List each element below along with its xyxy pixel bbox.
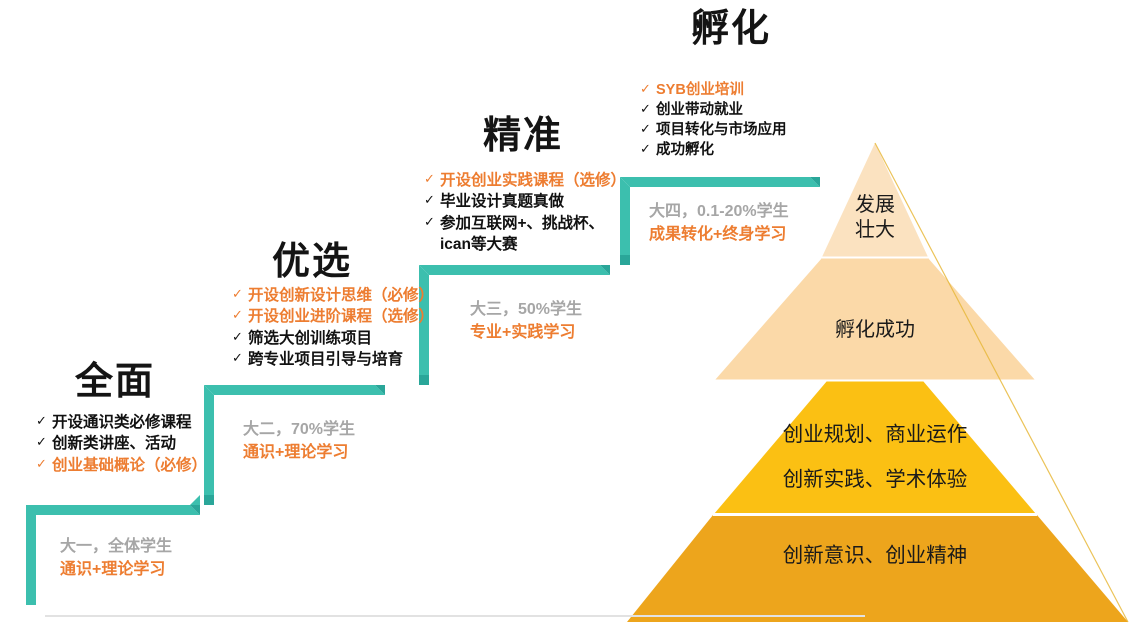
bullet-text: 开设创业实践课程（选修） (440, 170, 626, 191)
bullet-item: ✓ 创新类讲座、活动 (36, 433, 207, 454)
step-focus: 专业+实践学习 (470, 321, 582, 344)
check-icon: ✓ (424, 170, 440, 188)
stage-bullets-jingzhun: ✓ 开设创业实践课程（选修） ✓ 毕业设计真题真做 ✓ 参加互联网+、挑战杯、 … (424, 170, 626, 256)
stair-step-4-shadow (620, 255, 630, 265)
check-icon: ✓ (640, 140, 656, 158)
pyramid-label-level-4: 创新意识、创业精神 (725, 543, 1025, 569)
step-label-fuhua: 大四，0.1-20%学生 成果转化+终身学习 (649, 200, 789, 246)
stair-step-2-shadow (204, 495, 214, 505)
stair-step-1-riser (26, 505, 36, 605)
bullet-text: 创业基础概论（必修） (52, 455, 207, 476)
stage-title-fuhua: 孵化 (691, 10, 771, 48)
bullet-item: ican等大赛 (424, 234, 626, 255)
step-audience: 大一，全体学生 (60, 535, 172, 558)
bullet-text: 成功孵化 (656, 140, 714, 160)
bullet-text: 筛选大创训练项目 (248, 328, 372, 349)
bullet-text: 创业带动就业 (656, 100, 743, 120)
bullet-item: ✓ 参加互联网+、挑战杯、 (424, 213, 626, 234)
check-icon: ✓ (424, 213, 440, 231)
bullet-item: ✓ 项目转化与市场应用 (640, 120, 787, 140)
pyramid-label-line: 孵化成功 (800, 318, 950, 343)
bullet-item: ✓ 开设创业进阶课程（选修） (232, 306, 434, 327)
stage-title-jingzhun: 精准 (483, 117, 563, 155)
bullet-item: ✓ 创业基础概论（必修） (36, 455, 207, 476)
step-label-jingzhun: 大三，50%学生 专业+实践学习 (470, 298, 582, 344)
step-audience: 大二，70%学生 (243, 418, 355, 441)
stair-step-3-tread (419, 265, 610, 275)
step-focus: 通识+理论学习 (243, 441, 355, 464)
bullet-item: ✓ 创业带动就业 (640, 100, 787, 120)
bullet-text: 跨专业项目引导与培育 (248, 349, 403, 370)
step-audience: 大三，50%学生 (470, 298, 582, 321)
check-icon: ✓ (232, 328, 248, 346)
bullet-item: ✓ 跨专业项目引导与培育 (232, 349, 434, 370)
stair-step-1-tread (26, 505, 200, 515)
stage-bullets-quanmian: ✓ 开设通识类必修课程 ✓ 创新类讲座、活动 ✓ 创业基础概论（必修） (36, 412, 207, 476)
bullet-item: ✓ SYB创业培训 (640, 80, 787, 100)
step-focus: 成果转化+终身学习 (649, 223, 789, 246)
pyramid-label-level-2: 孵化成功 (800, 318, 950, 343)
pyramid-label-level-3: 创业规划、商业运作 创新实践、学术体验 (725, 412, 1025, 502)
bullet-text: 项目转化与市场应用 (656, 120, 787, 140)
pyramid-label-level-1: 发展 壮大 (840, 193, 910, 243)
stair-step-4-tread (620, 177, 820, 187)
bullet-text: SYB创业培训 (656, 80, 744, 100)
bullet-text-continuation: ican等大赛 (440, 234, 518, 255)
pyramid-label-line: 壮大 (840, 218, 910, 243)
stair-step-2-tread (204, 385, 385, 395)
check-icon: ✓ (232, 306, 248, 324)
bullet-item: ✓ 毕业设计真题真做 (424, 191, 626, 212)
check-icon: ✓ (424, 191, 440, 209)
bullet-item: ✓ 开设通识类必修课程 (36, 412, 207, 433)
bullet-item: ✓ 开设创新设计思维（必修） (232, 285, 434, 306)
check-icon: ✓ (640, 120, 656, 138)
stage-bullets-youxuan: ✓ 开设创新设计思维（必修） ✓ 开设创业进阶课程（选修） ✓ 筛选大创训练项目… (232, 285, 434, 371)
check-icon: ✓ (232, 349, 248, 367)
pyramid-label-line: 创新实践、学术体验 (725, 457, 1025, 502)
bullet-text: 开设创新设计思维（必修） (248, 285, 434, 306)
step-label-quanmian: 大一，全体学生 通识+理论学习 (60, 535, 172, 581)
bullet-item: ✓ 开设创业实践课程（选修） (424, 170, 626, 191)
check-icon: ✓ (640, 80, 656, 98)
check-icon: ✓ (36, 455, 52, 473)
stage-title-quanmian: 全面 (75, 363, 155, 401)
check-icon: ✓ (232, 285, 248, 303)
pyramid-label-line: 创新意识、创业精神 (725, 543, 1025, 569)
stage-bullets-fuhua: ✓ SYB创业培训 ✓ 创业带动就业 ✓ 项目转化与市场应用 ✓ 成功孵化 (640, 80, 787, 160)
pyramid-label-line: 发展 (840, 193, 910, 218)
slide-canvas: 全面 ✓ 开设通识类必修课程 ✓ 创新类讲座、活动 ✓ 创业基础概论（必修） 大… (0, 0, 1131, 630)
bullet-text: 开设通识类必修课程 (52, 412, 192, 433)
check-icon: ✓ (36, 433, 52, 451)
baseline-divider (45, 615, 865, 617)
stage-title-youxuan: 优选 (272, 243, 352, 281)
bullet-text: 创新类讲座、活动 (52, 433, 176, 454)
check-icon: ✓ (36, 412, 52, 430)
bullet-text: 开设创业进阶课程（选修） (248, 306, 434, 327)
step-audience: 大四，0.1-20%学生 (649, 200, 789, 223)
bullet-text: 参加互联网+、挑战杯、 (440, 213, 604, 234)
pyramid-label-line: 创业规划、商业运作 (725, 412, 1025, 457)
bullet-item: ✓ 成功孵化 (640, 140, 787, 160)
bullet-text: 毕业设计真题真做 (440, 191, 564, 212)
check-icon: ✓ (640, 100, 656, 118)
stair-step-3-shadow (419, 375, 429, 385)
step-focus: 通识+理论学习 (60, 558, 172, 581)
step-label-youxuan: 大二，70%学生 通识+理论学习 (243, 418, 355, 464)
bullet-item: ✓ 筛选大创训练项目 (232, 328, 434, 349)
